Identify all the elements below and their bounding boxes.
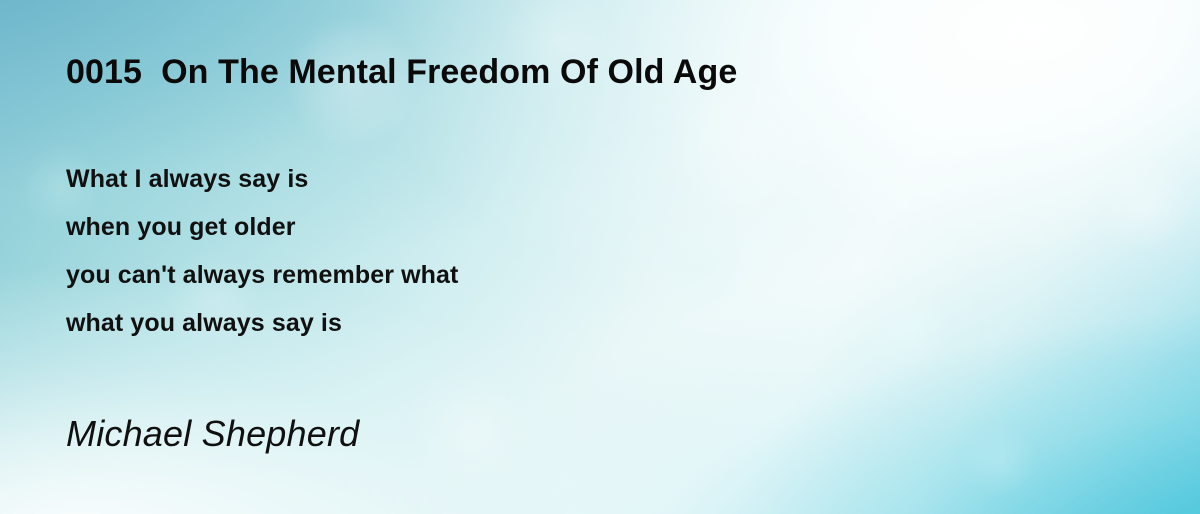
poem-line: when you get older [66, 203, 458, 251]
poem-line: you can't always remember what [66, 251, 458, 299]
poem-image-card: 0015 On The Mental Freedom Of Old Age Wh… [0, 0, 1200, 514]
poem-content: 0015 On The Mental Freedom Of Old Age Wh… [0, 0, 1200, 514]
poem-line: What I always say is [66, 155, 458, 203]
poem-body: What I always say is when you get older … [66, 155, 458, 347]
poem-title: 0015 On The Mental Freedom Of Old Age [66, 50, 737, 94]
poem-line: what you always say is [66, 299, 458, 347]
poem-author: Michael Shepherd [66, 411, 359, 457]
